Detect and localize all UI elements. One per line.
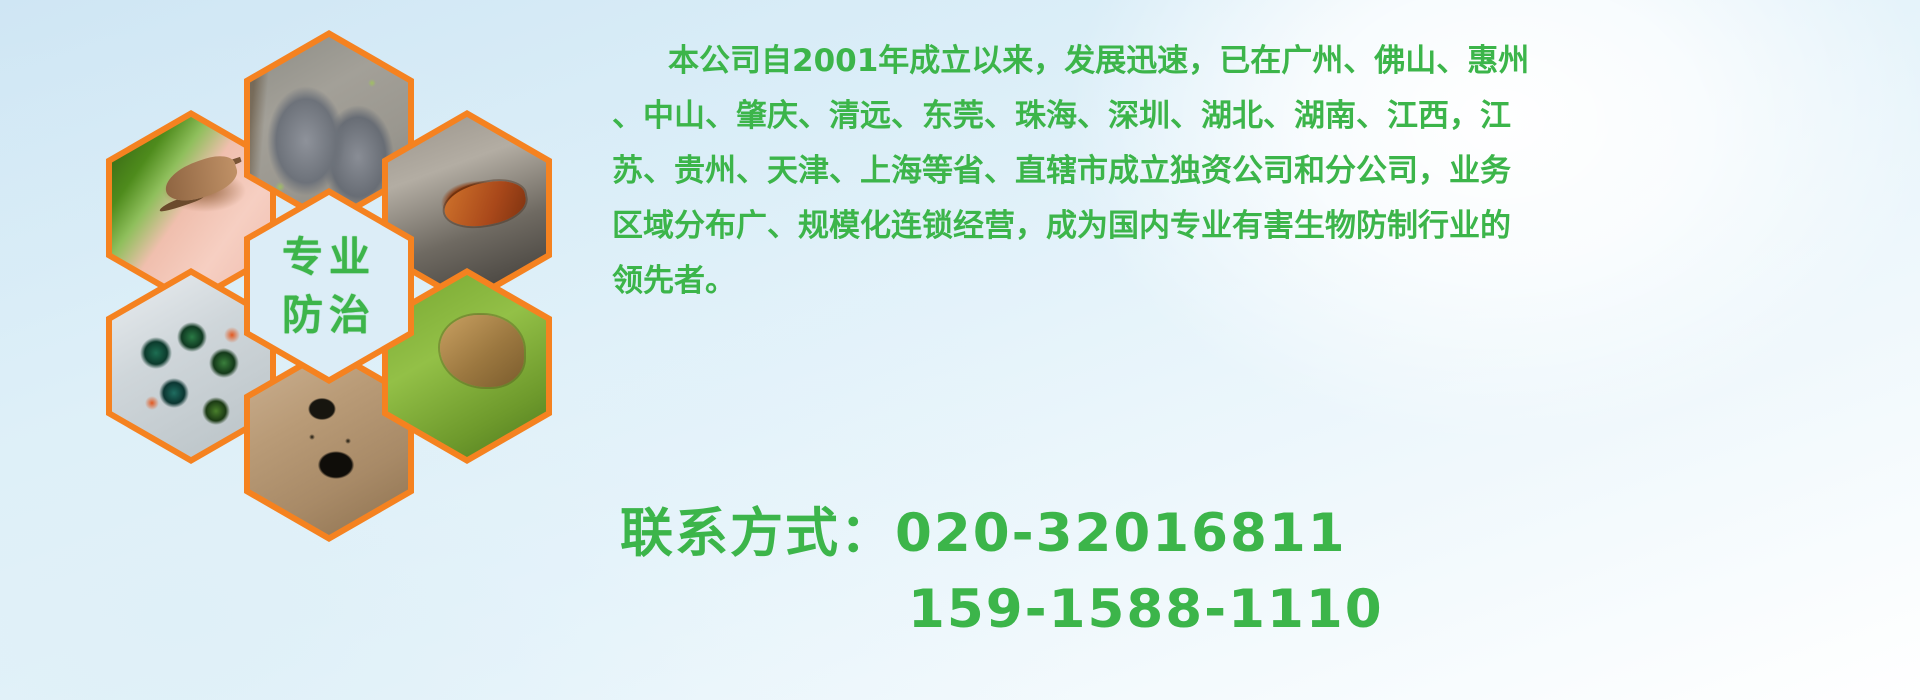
intro-line-5: 领先者。 [612, 254, 1902, 309]
intro-line-3: 苏、贵州、天津、上海等省、直辖市成立独资公司和分公司，业务 [612, 144, 1902, 199]
contact-phone-primary[interactable]: 020-32016811 [895, 503, 1347, 564]
logo-hexagon: 专业 防治 [250, 195, 408, 377]
contact-primary-line: 联系方式：020-32016811 [620, 496, 1920, 572]
contact-label: 联系方式： [620, 503, 895, 564]
promo-banner: 专业 防治 本公司自2001年成立以来，发展迅速，已在广州、佛山、惠州 、中山、… [0, 0, 1920, 700]
contact-phone-secondary[interactable]: 159-1588-1110 [908, 579, 1384, 640]
logo-slogan-line-1: 专业 [282, 233, 376, 281]
contact-block: 联系方式：020-32016811 159-1588-1110 [620, 496, 1920, 648]
intro-line-2: 、中山、肇庆、清远、东莞、珠海、深圳、湖北、湖南、江西，江 [612, 89, 1902, 144]
intro-line-1: 本公司自2001年成立以来，发展迅速，已在广州、佛山、惠州 [612, 34, 1902, 89]
intro-paragraph: 本公司自2001年成立以来，发展迅速，已在广州、佛山、惠州 、中山、肇庆、清远、… [612, 34, 1902, 309]
honeycomb-gallery: 专业 防治 [86, 6, 586, 576]
contact-secondary-line: 159-1588-1110 [620, 572, 1920, 648]
intro-line-4: 区域分布广、规模化连锁经营，成为国内专业有害生物防制行业的 [612, 199, 1902, 254]
logo-slogan: 专业 防治 [282, 233, 376, 340]
logo-slogan-line-2: 防治 [282, 291, 376, 339]
